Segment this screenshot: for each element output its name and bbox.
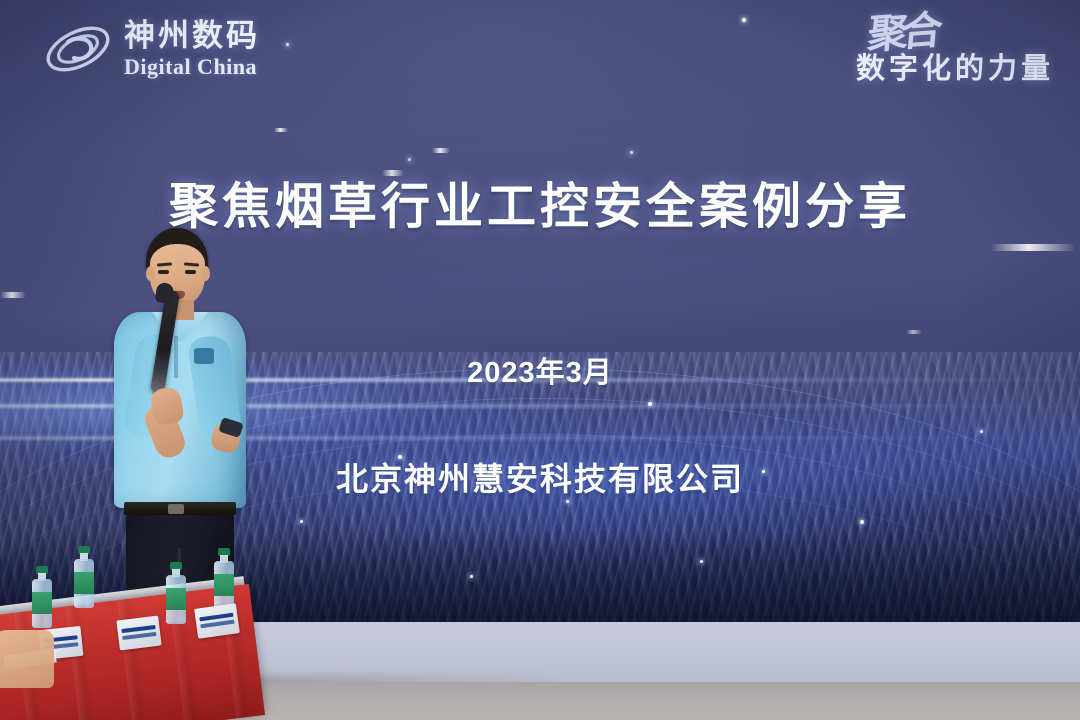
particle-streak	[382, 170, 404, 176]
water-bottle	[214, 548, 234, 610]
name-card-text	[121, 625, 155, 633]
event-mark-calligraphy: 聚合	[866, 14, 938, 53]
brand-logo-digital-china: 神州数码 Digital China	[42, 18, 260, 80]
bottle-label	[74, 572, 94, 594]
speaker-placket	[174, 336, 178, 378]
bottle-label	[166, 588, 186, 610]
speaker-ear-left	[146, 266, 155, 281]
particle-streak	[0, 292, 26, 298]
speaker-belt-buckle	[168, 504, 184, 514]
bottle-label	[214, 574, 234, 596]
brand-name-cn: 神州数码	[124, 20, 260, 51]
particle-streak	[990, 244, 1076, 251]
particle-streak	[432, 148, 450, 153]
name-card	[116, 616, 161, 651]
seated-attendee	[0, 630, 54, 688]
speaker-shirt-logo	[194, 348, 214, 364]
water-bottle	[32, 566, 52, 628]
event-logo: 聚合 数字化的力量	[856, 16, 1054, 87]
microphone-head-icon	[155, 282, 175, 304]
bottle-label	[32, 592, 52, 614]
particle-streak	[906, 330, 922, 334]
speaker-ear-right	[201, 266, 210, 281]
stage-photo-scene: 神州数码 Digital China 聚合 数字化的力量 聚焦烟草行业工控安全案…	[0, 0, 1080, 720]
name-card-text	[199, 613, 233, 622]
particle-dot	[630, 151, 633, 154]
slide-title: 聚焦烟草行业工控安全案例分享	[0, 182, 1080, 233]
name-card	[194, 603, 240, 639]
particle-dot	[408, 158, 411, 161]
speaker-eye-right	[185, 270, 196, 274]
particle-dot	[286, 43, 289, 46]
water-bottle	[166, 562, 186, 624]
brand-name-en: Digital China	[124, 56, 260, 78]
particle-streak	[274, 128, 288, 132]
water-bottle	[74, 546, 94, 608]
particle-dot	[742, 18, 746, 22]
speaker-eye-left	[158, 270, 169, 274]
swirl-galaxy-icon	[42, 18, 114, 80]
